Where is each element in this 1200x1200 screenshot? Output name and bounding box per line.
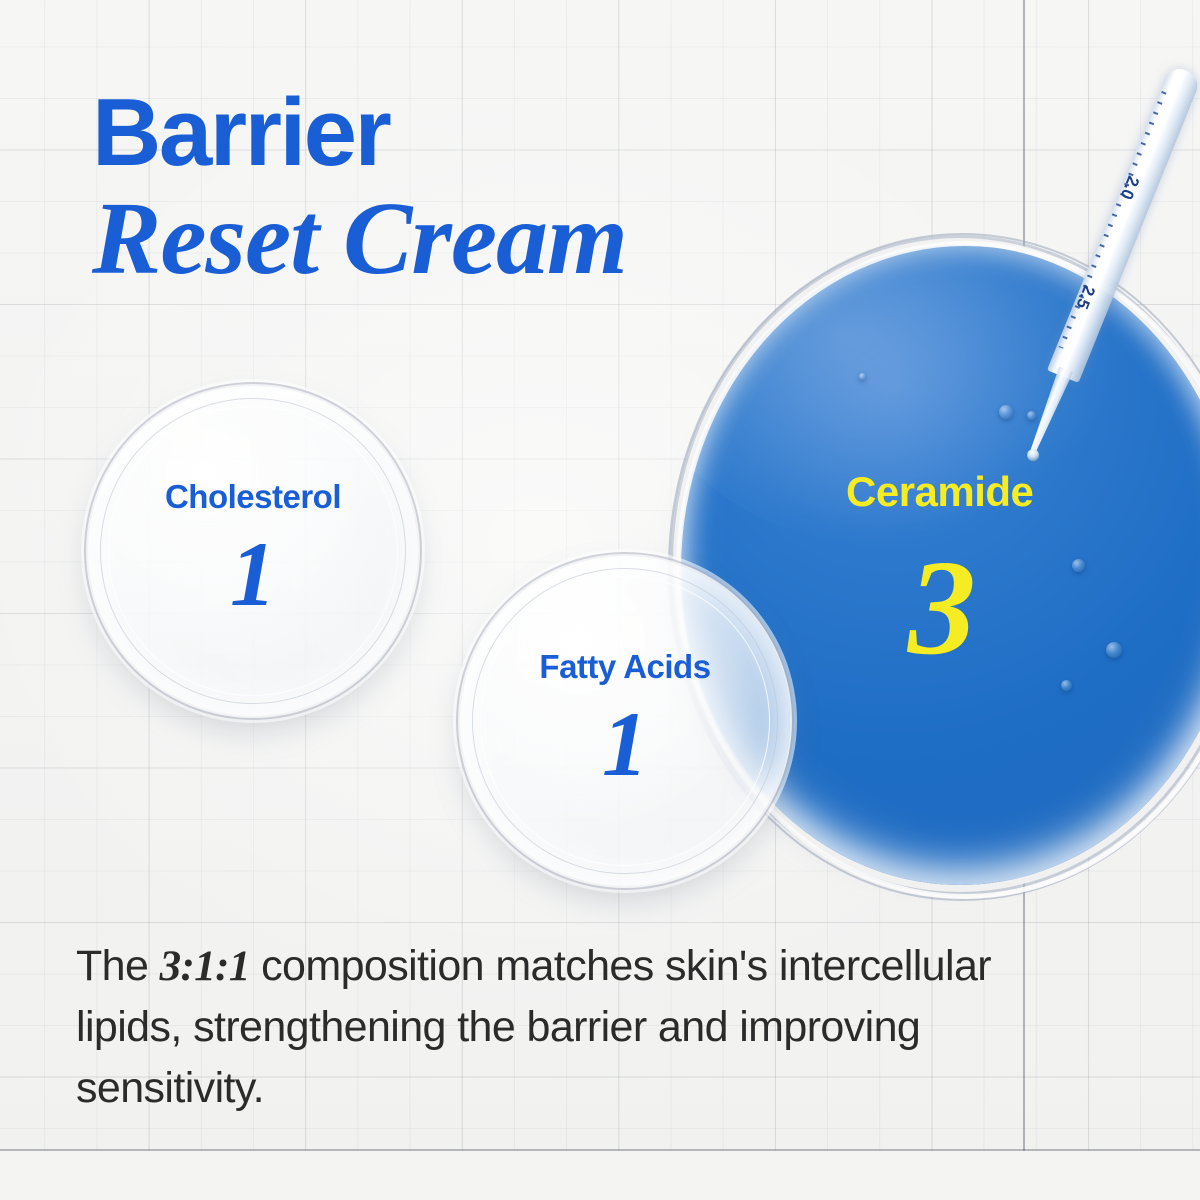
title-line-primary: Barrier [92,86,627,180]
liquid-bubble [1061,680,1072,691]
ceramide-value: 3 [908,540,976,676]
title-line-secondary: Reset Cream [92,188,627,290]
ceramide-label: Ceramide [846,468,1033,516]
fatty-acids-label: Fatty Acids [460,648,790,686]
liquid-bubble [1106,642,1122,658]
fatty-acids-value: 1 [460,698,790,790]
cholesterol-label: Cholesterol [88,478,418,516]
fatty-acids-dish: Fatty Acids 1 [460,556,790,886]
page-title: Barrier Reset Cream [92,86,627,290]
body-copy-before: The [76,942,160,990]
cholesterol-dish: Cholesterol 1 [88,386,418,716]
body-copy: The 3:1:1 composition matches skin's int… [76,936,1036,1119]
footer-band [0,1151,1200,1200]
body-copy-ratio: 3:1:1 [160,943,250,990]
liquid-bubble [1072,559,1085,572]
product-marketing-image: Barrier Reset Cream 2.0 2.5 Ceramide 3 C… [0,0,1200,1200]
cholesterol-value: 1 [88,528,418,620]
liquid-bubble [859,373,866,380]
liquid-bubble [999,405,1013,419]
